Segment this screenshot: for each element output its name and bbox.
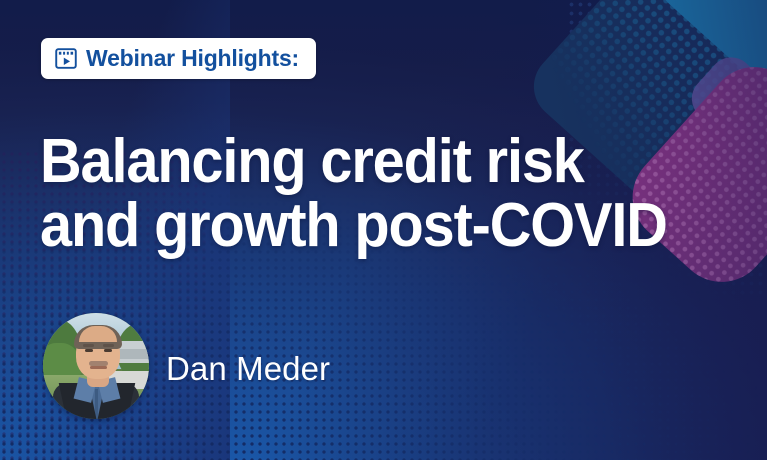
speaker-avatar [43, 313, 149, 419]
webinar-highlights-badge: Webinar Highlights: [41, 38, 316, 79]
headline-line-2: and growth post-COVID [40, 194, 697, 258]
avatar-eye-right [104, 349, 112, 352]
film-play-icon [55, 48, 77, 69]
badge-label: Webinar Highlights: [86, 47, 299, 70]
webinar-promo-banner: Webinar Highlights: Balancing credit ris… [0, 0, 767, 460]
avatar-brow-left [83, 344, 94, 347]
avatar-eye-left [85, 349, 93, 352]
avatar-mouth [90, 366, 107, 369]
banner-headline: Balancing credit risk and growth post-CO… [40, 130, 697, 259]
avatar-brow-right [103, 344, 114, 347]
headline-line-1: Balancing credit risk [40, 130, 697, 194]
speaker-name: Dan Meder [166, 352, 330, 385]
